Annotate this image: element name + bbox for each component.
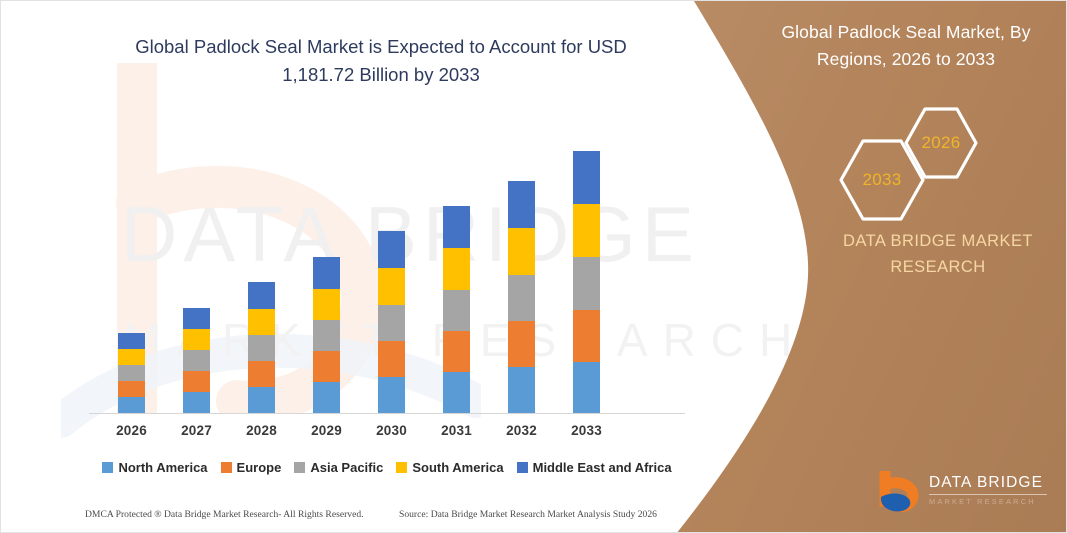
legend-label: Middle East and Africa: [533, 460, 672, 475]
logo-text: DATA BRIDGE MARKET RESEARCH: [929, 475, 1047, 505]
footer-copyright: DMCA Protected ® Data Bridge Market Rese…: [85, 509, 364, 520]
bars-layer: [87, 121, 687, 413]
footer-source: Source: Data Bridge Market Research Mark…: [399, 509, 657, 520]
x-axis-label-2027: 2027: [165, 423, 229, 438]
hexagon-start-year: 2026: [903, 105, 979, 181]
bar-segment: [443, 331, 470, 372]
bar-segment: [378, 305, 405, 341]
bar-segment: [378, 231, 405, 268]
bar-segment: [508, 367, 535, 413]
legend-swatch-icon: [221, 462, 232, 473]
legend-label: Europe: [237, 460, 282, 475]
bar-segment: [313, 257, 340, 289]
legend-label: North America: [118, 460, 207, 475]
x-axis-label-2029: 2029: [295, 423, 359, 438]
legend-item-south-america[interactable]: South America: [396, 460, 503, 475]
legend-swatch-icon: [294, 462, 305, 473]
x-axis-labels: 20262027202820292030203120322033: [87, 423, 687, 445]
bar-segment: [573, 257, 600, 310]
legend-swatch-icon: [396, 462, 407, 473]
x-axis-label-2032: 2032: [490, 423, 554, 438]
bar-segment: [118, 365, 145, 381]
bar-segment: [313, 382, 340, 413]
bar-segment: [443, 248, 470, 290]
x-axis-label-2031: 2031: [425, 423, 489, 438]
logo-mark-icon: [877, 471, 923, 515]
data-bridge-logo: DATA BRIDGE MARKET RESEARCH: [877, 471, 1045, 515]
bar-segment: [573, 362, 600, 413]
bar-segment: [573, 204, 600, 257]
chart-plot-area: [87, 121, 687, 421]
bar-2032: [508, 181, 535, 413]
logo-primary-text: DATA BRIDGE: [929, 475, 1047, 491]
bar-segment: [443, 290, 470, 331]
infographic-canvas: DATA BRIDGE MARKET RESEARCH Global Padlo…: [0, 0, 1067, 533]
bar-segment: [573, 310, 600, 362]
bar-segment: [378, 377, 405, 413]
bar-segment: [508, 321, 535, 367]
bar-segment: [573, 151, 600, 204]
bar-segment: [443, 372, 470, 413]
bar-segment: [508, 228, 535, 275]
bar-segment: [313, 320, 340, 351]
bar-segment: [508, 275, 535, 321]
bar-segment: [183, 308, 210, 329]
bar-2027: [183, 308, 210, 413]
bar-segment: [378, 268, 405, 305]
brand-name: DATA BRIDGE MARKET RESEARCH: [813, 229, 1063, 280]
legend-swatch-icon: [517, 462, 528, 473]
x-axis-label-2026: 2026: [100, 423, 164, 438]
bar-segment: [183, 350, 210, 371]
x-axis-label-2033: 2033: [555, 423, 619, 438]
panel-title: Global Padlock Seal Market, By Regions, …: [761, 19, 1051, 72]
bar-segment: [118, 349, 145, 365]
chart-title: Global Padlock Seal Market is Expected t…: [97, 33, 665, 89]
x-axis-label-2030: 2030: [360, 423, 424, 438]
bar-2026: [118, 333, 145, 413]
bar-2033: [573, 151, 600, 413]
logo-secondary-text: MARKET RESEARCH: [929, 498, 1047, 505]
legend-label: South America: [412, 460, 503, 475]
bar-segment: [183, 371, 210, 392]
bar-segment: [508, 181, 535, 228]
bar-segment: [378, 341, 405, 377]
bar-segment: [313, 289, 340, 320]
footer: DMCA Protected ® Data Bridge Market Rese…: [1, 509, 701, 527]
bar-segment: [443, 206, 470, 248]
bar-segment: [118, 333, 145, 349]
bar-2029: [313, 257, 340, 413]
bar-segment: [248, 335, 275, 361]
logo-divider: [929, 494, 1047, 495]
legend-label: Asia Pacific: [310, 460, 383, 475]
bar-segment: [248, 387, 275, 413]
hexagon-start-year-label: 2026: [903, 105, 979, 181]
legend-item-north-america[interactable]: North America: [102, 460, 207, 475]
chart-legend: North AmericaEuropeAsia PacificSouth Ame…: [87, 456, 687, 478]
x-axis-label-2028: 2028: [230, 423, 294, 438]
x-axis-line: [89, 413, 685, 414]
legend-item-middle-east-and-africa[interactable]: Middle East and Africa: [517, 460, 672, 475]
legend-item-asia-pacific[interactable]: Asia Pacific: [294, 460, 383, 475]
bar-segment: [313, 351, 340, 382]
bar-segment: [118, 381, 145, 397]
bar-segment: [183, 329, 210, 350]
bar-segment: [248, 309, 275, 335]
legend-swatch-icon: [102, 462, 113, 473]
bar-segment: [248, 361, 275, 387]
bar-segment: [248, 282, 275, 309]
bar-segment: [118, 397, 145, 413]
bar-2030: [378, 231, 405, 413]
bar-2028: [248, 282, 275, 413]
bar-2031: [443, 206, 470, 413]
bar-segment: [183, 392, 210, 413]
legend-item-europe[interactable]: Europe: [221, 460, 282, 475]
